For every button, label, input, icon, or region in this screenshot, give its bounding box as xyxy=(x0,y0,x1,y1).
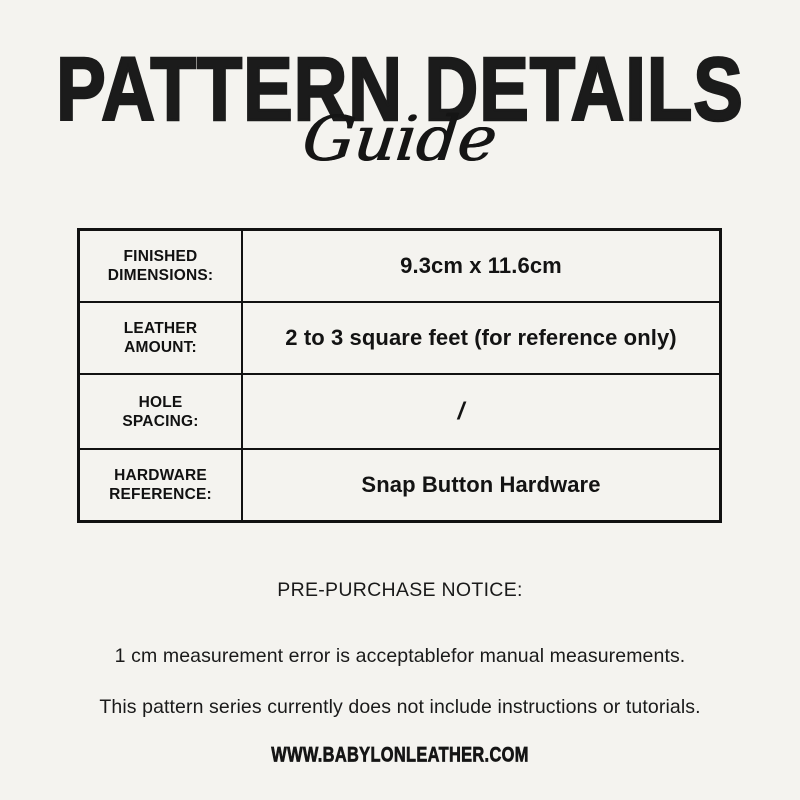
spec-value-hole-spacing-text: / xyxy=(458,398,465,426)
notice-heading: PRE-PURCHASE NOTICE: xyxy=(0,578,800,602)
spec-label-hardware-reference: HARDWARE REFERENCE: xyxy=(79,449,243,522)
pattern-spec-table: FINISHED DIMENSIONS: 9.3cm x 11.6cm LEAT… xyxy=(77,228,722,523)
pattern-details-page: { "theme": { "background": "#f4f3ef", "i… xyxy=(0,0,800,800)
spec-value-hole-spacing: / xyxy=(242,374,721,449)
spec-label-finished-dimensions: FINISHED DIMENSIONS: xyxy=(79,230,243,303)
pre-purchase-notice: PRE-PURCHASE NOTICE: 1 cm measurement er… xyxy=(0,578,800,719)
spec-value-finished-dimensions: 9.3cm x 11.6cm xyxy=(242,230,721,303)
table-row: FINISHED DIMENSIONS: 9.3cm x 11.6cm xyxy=(79,230,721,303)
footer: WWW.BABYLONLEATHER.COM xyxy=(0,744,800,766)
spacer xyxy=(0,668,800,695)
table-row: LEATHER AMOUNT: 2 to 3 square feet (for … xyxy=(79,302,721,374)
footer-website-url: WWW.BABYLONLEATHER.COM xyxy=(271,743,528,766)
spec-label-line-1: LEATHER xyxy=(124,320,197,337)
table-row: HOLE SPACING: / xyxy=(79,374,721,449)
spec-label-leather-amount: LEATHER AMOUNT: xyxy=(79,302,243,374)
spec-label-line-2: SPACING: xyxy=(122,413,198,430)
spec-value-leather-amount: 2 to 3 square feet (for reference only) xyxy=(242,302,721,374)
spec-label-line-1: HOLE xyxy=(139,394,183,411)
notice-line-no-instructions: This pattern series currently does not i… xyxy=(0,695,800,719)
table-row: HARDWARE REFERENCE: Snap Button Hardware xyxy=(79,449,721,522)
page-subtitle-script: Guide xyxy=(0,108,800,170)
spec-label-hole-spacing: HOLE SPACING: xyxy=(79,374,243,449)
spec-label-line-2: DIMENSIONS: xyxy=(108,267,214,284)
spacer xyxy=(0,602,800,644)
header: PATTERN DETAILS Guide xyxy=(0,0,800,200)
spec-label-line-1: FINISHED xyxy=(124,248,198,265)
spec-label-line-1: HARDWARE xyxy=(114,467,207,484)
spec-value-hardware-reference: Snap Button Hardware xyxy=(242,449,721,522)
notice-line-measurement-error: 1 cm measurement error is acceptablefor … xyxy=(0,644,800,668)
spec-label-line-2: AMOUNT: xyxy=(124,339,197,356)
spec-label-line-2: REFERENCE: xyxy=(109,486,212,503)
